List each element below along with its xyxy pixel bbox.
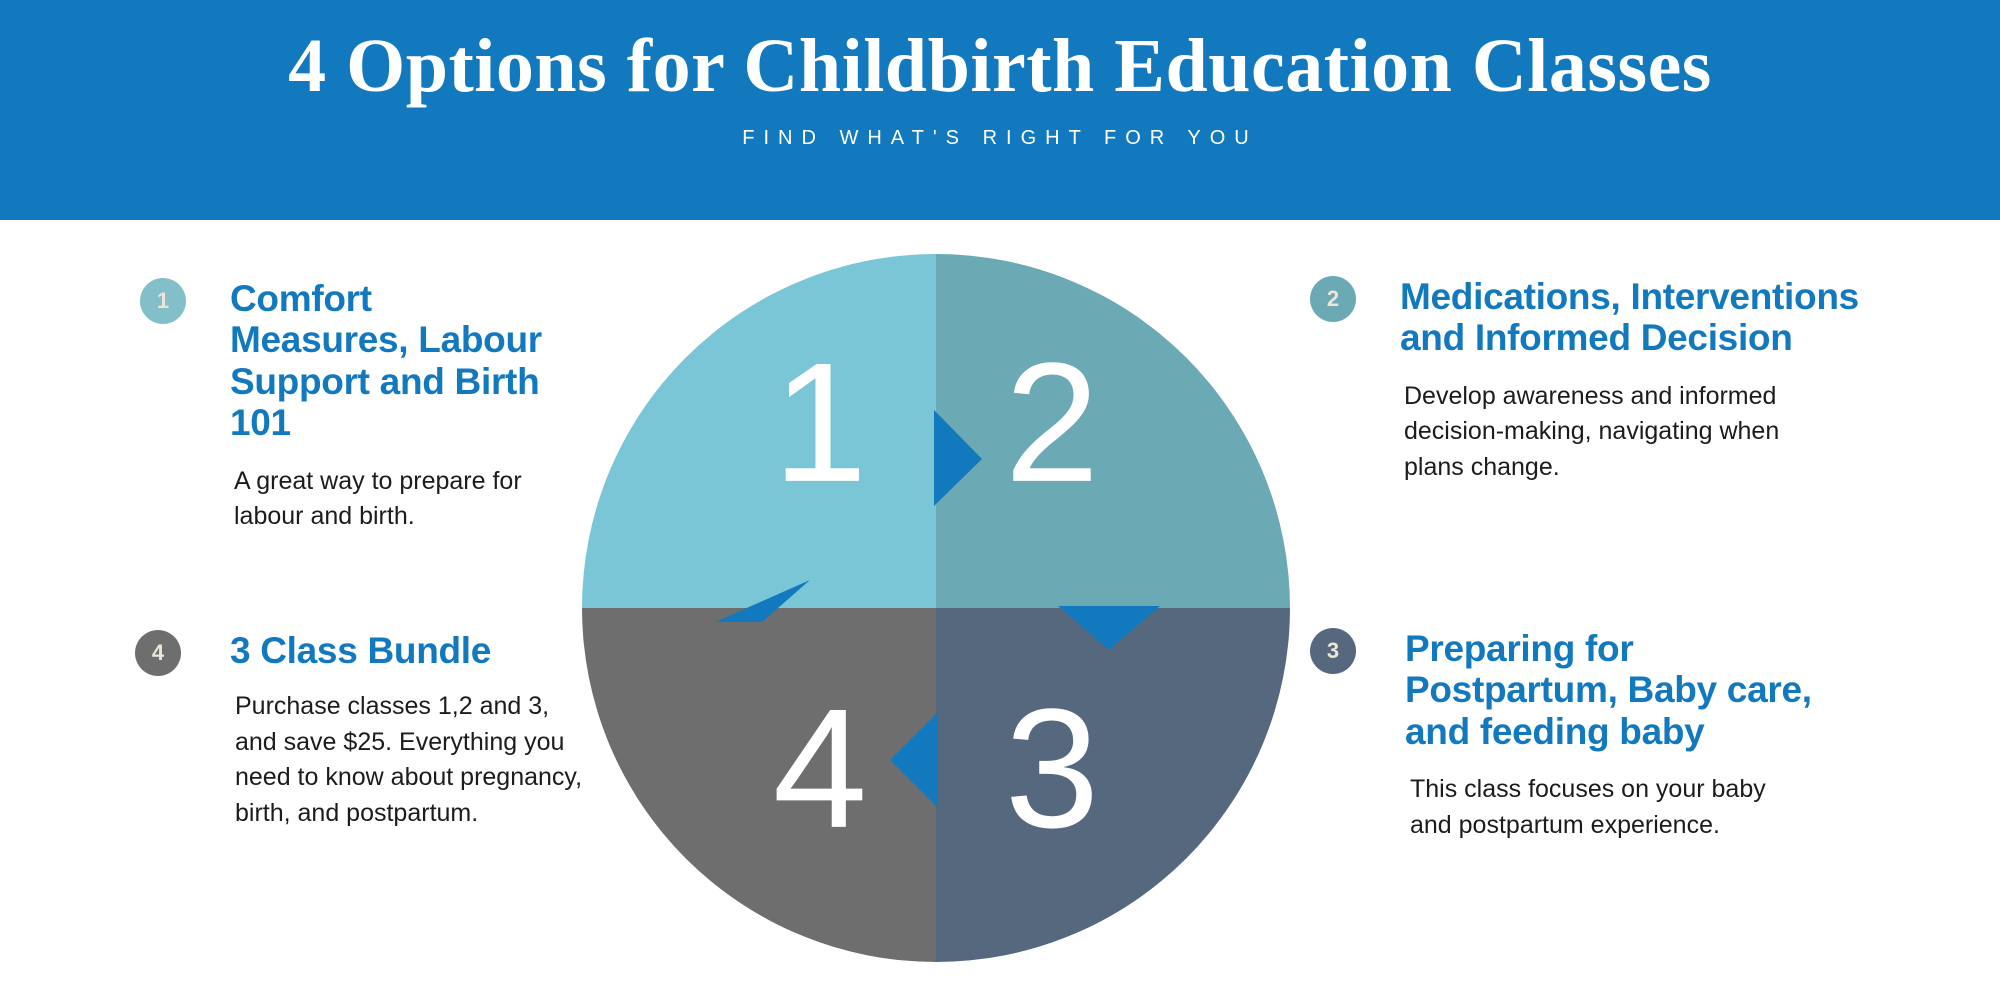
- option-block-3[interactable]: 3 Preparing for Postpartum, Baby care, a…: [1310, 628, 1870, 843]
- option-badge-4: 4: [135, 630, 181, 676]
- option-badge-1: 1: [140, 278, 186, 324]
- option-block-4[interactable]: 4 3 Class Bundle Purchase classes 1,2 an…: [135, 630, 565, 831]
- option-heading-4: 3 Class Bundle: [230, 630, 560, 671]
- wheel-quadrant-4[interactable]: [582, 608, 936, 962]
- page-subtitle: FIND WHAT'S RIGHT FOR YOU: [0, 127, 2000, 150]
- page-title: 4 Options for Childbirth Education Class…: [0, 28, 2000, 104]
- wheel-svg: 1 2 3 4: [582, 254, 1290, 962]
- header-band: 4 Options for Childbirth Education Class…: [0, 0, 2000, 220]
- option-heading-3: Preparing for Postpartum, Baby care, and…: [1405, 628, 1835, 752]
- wheel-number-3: 3: [1005, 674, 1100, 864]
- option-heading-2: Medications, Interventions and Informed …: [1400, 276, 1870, 359]
- option-body-1: A great way to prepare for labour and bi…: [234, 464, 534, 535]
- wheel-quadrant-1[interactable]: [582, 254, 936, 608]
- cycle-wheel-diagram: 1 2 3 4: [582, 254, 1290, 962]
- option-heading-1: Comfort Measures, Labour Support and Bir…: [230, 278, 560, 444]
- infographic-page: 4 Options for Childbirth Education Class…: [0, 0, 2000, 1000]
- option-badge-3: 3: [1310, 628, 1356, 674]
- wheel-number-2: 2: [1005, 328, 1100, 518]
- option-block-2[interactable]: 2 Medications, Interventions and Informe…: [1310, 276, 1870, 485]
- option-body-3: This class focuses on your baby and post…: [1410, 772, 1810, 843]
- option-block-1[interactable]: 1 Comfort Measures, Labour Support and B…: [140, 278, 560, 535]
- option-body-2: Develop awareness and informed decision-…: [1404, 379, 1824, 486]
- option-badge-2: 2: [1310, 276, 1356, 322]
- wheel-quadrant-3[interactable]: [936, 608, 1290, 962]
- wheel-number-1: 1: [773, 328, 868, 518]
- wheel-quadrant-2[interactable]: [936, 254, 1290, 608]
- option-body-4: Purchase classes 1,2 and 3, and save $25…: [235, 689, 585, 831]
- wheel-number-4: 4: [773, 674, 868, 864]
